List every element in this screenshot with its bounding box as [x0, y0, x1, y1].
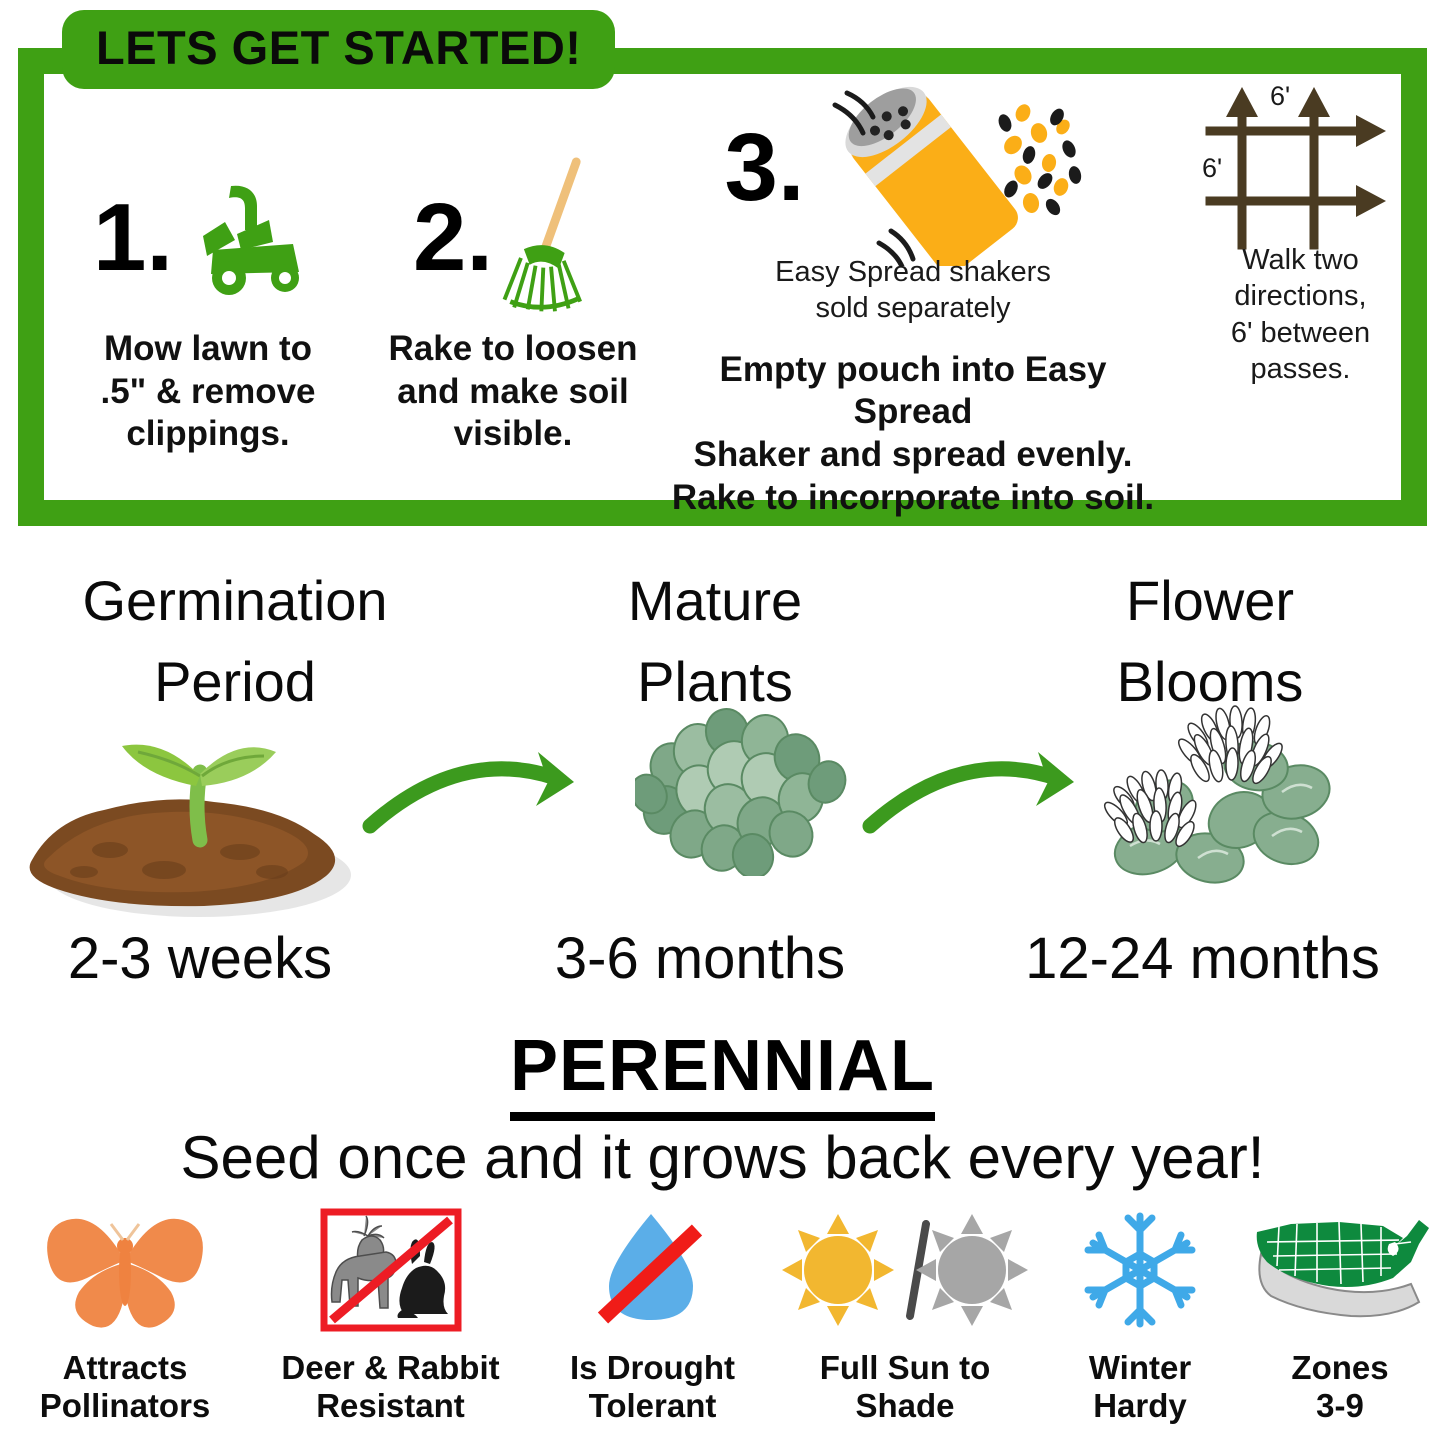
- benefit-label-4: Winter Hardy: [1045, 1349, 1235, 1426]
- benefit-winter-hardy: Winter Hardy: [1045, 1205, 1235, 1426]
- arrow-right-icon: [860, 740, 1115, 850]
- lawn-mower-icon: [173, 178, 323, 298]
- step-2-header: 2.: [363, 148, 663, 328]
- clover-blooms-slot: [1090, 700, 1350, 890]
- get-started-badge-label: LETS GET STARTED!: [96, 21, 581, 74]
- no-water-drop-icon: [593, 1206, 713, 1334]
- step-4-text: Walk two directions, 6' between passes.: [1173, 242, 1428, 387]
- get-started-badge: LETS GET STARTED!: [62, 10, 615, 89]
- step-1-number: 1.: [93, 190, 173, 286]
- benefit-label-5: Zones 3-9: [1240, 1349, 1440, 1426]
- stage-label-germination: Germination Period: [10, 560, 460, 722]
- step-2: 2. Rake to loosen and make soil visible.: [363, 148, 663, 456]
- perennial-tagline: Seed once and it grows back every year!: [0, 1125, 1445, 1191]
- benefit-zones: Zones 3-9: [1240, 1205, 1440, 1426]
- stage-time-flower: 12-24 months: [960, 930, 1445, 988]
- step-1-header: 1.: [58, 148, 358, 328]
- benefit-label-2: Is Drought Tolerant: [545, 1349, 760, 1426]
- steps-container: 1. Mow lawn to .5" & remove clippings. 2…: [18, 48, 1427, 526]
- stage-time-mature: 3-6 months: [460, 930, 940, 988]
- clover-blooms-icon: [1090, 700, 1350, 885]
- arrow-right-icon: [360, 740, 615, 850]
- benefit-full-sun-to-shade: Full Sun to Shade: [770, 1205, 1040, 1426]
- stage-label-mature: Mature Plants: [490, 560, 940, 722]
- benefit-art-1: [253, 1205, 528, 1335]
- grid-label-left: 6': [1202, 153, 1222, 183]
- infographic-page: LETS GET STARTED! 1. Mow lawn to .5" & r…: [0, 0, 1445, 1445]
- rake-icon: [493, 156, 613, 321]
- stage-label-flower: Flower Blooms: [990, 560, 1430, 722]
- butterfly-icon: [35, 1206, 215, 1334]
- benefit-art-2: [545, 1205, 760, 1335]
- perennial-heading: PERENNIAL: [510, 1026, 935, 1121]
- no-deer-rabbit-icon: [316, 1206, 466, 1334]
- shade-sun-icon: [916, 1214, 1028, 1326]
- benefit-art-4: [1045, 1205, 1235, 1335]
- growth-stage-art: [0, 700, 1445, 920]
- step-1-text: Mow lawn to .5" & remove clippings.: [58, 328, 358, 456]
- benefit-label-0: Attracts Pollinators: [10, 1349, 240, 1426]
- benefit-art-0: [10, 1205, 240, 1335]
- sun-shade-icon: [780, 1206, 1030, 1334]
- benefit-drought-tolerant: Is Drought Tolerant: [545, 1205, 760, 1426]
- seedling-in-soil-icon: [14, 710, 364, 920]
- step-2-text: Rake to loosen and make soil visible.: [363, 328, 663, 456]
- perennial-heading-wrap: PERENNIAL: [0, 1030, 1445, 1102]
- step-4: 6' 6' Walk two directions, 6' between pa…: [1173, 68, 1428, 387]
- step-3-number: 3.: [724, 120, 804, 216]
- arrow-2-slot: [860, 740, 1115, 855]
- step-2-number: 2.: [413, 190, 493, 286]
- arrow-1-slot: [360, 740, 615, 855]
- step-3-text: Empty pouch into Easy Spread Shaker and …: [658, 349, 1168, 520]
- benefit-art-3: [770, 1205, 1040, 1335]
- usa-map-icon: [1243, 1210, 1438, 1330]
- growth-stage-times: 2-3 weeks 3-6 months 12-24 months: [0, 930, 1445, 1010]
- step-3-header: 3.: [658, 68, 1168, 268]
- step-1: 1. Mow lawn to .5" & remove clippings.: [58, 148, 358, 456]
- clover-leaves-slot: [635, 706, 850, 881]
- seed-shaker-icon: [817, 71, 1102, 266]
- step-4-header: 6' 6': [1173, 68, 1428, 268]
- stage-time-germination: 2-3 weeks: [0, 930, 400, 988]
- growth-stage-labels: Germination Period Mature Plants Flower …: [0, 560, 1445, 710]
- benefit-deer-rabbit-resistant: Deer & Rabbit Resistant: [253, 1205, 528, 1426]
- seedling-art-slot: [14, 710, 364, 925]
- grid-label-top: 6': [1270, 81, 1290, 111]
- benefits-row: Attracts Pollinators: [0, 1205, 1445, 1445]
- sun-icon: [782, 1214, 894, 1326]
- benefit-label-1: Deer & Rabbit Resistant: [253, 1349, 528, 1426]
- step-3: 3.: [658, 68, 1168, 519]
- snowflake-icon: [1075, 1206, 1205, 1334]
- walking-grid-icon: 6' 6': [1196, 73, 1406, 263]
- benefit-art-5: [1240, 1205, 1440, 1335]
- clover-leaves-icon: [635, 706, 850, 876]
- benefit-label-3: Full Sun to Shade: [770, 1349, 1040, 1426]
- benefit-attracts-pollinators: Attracts Pollinators: [10, 1205, 240, 1426]
